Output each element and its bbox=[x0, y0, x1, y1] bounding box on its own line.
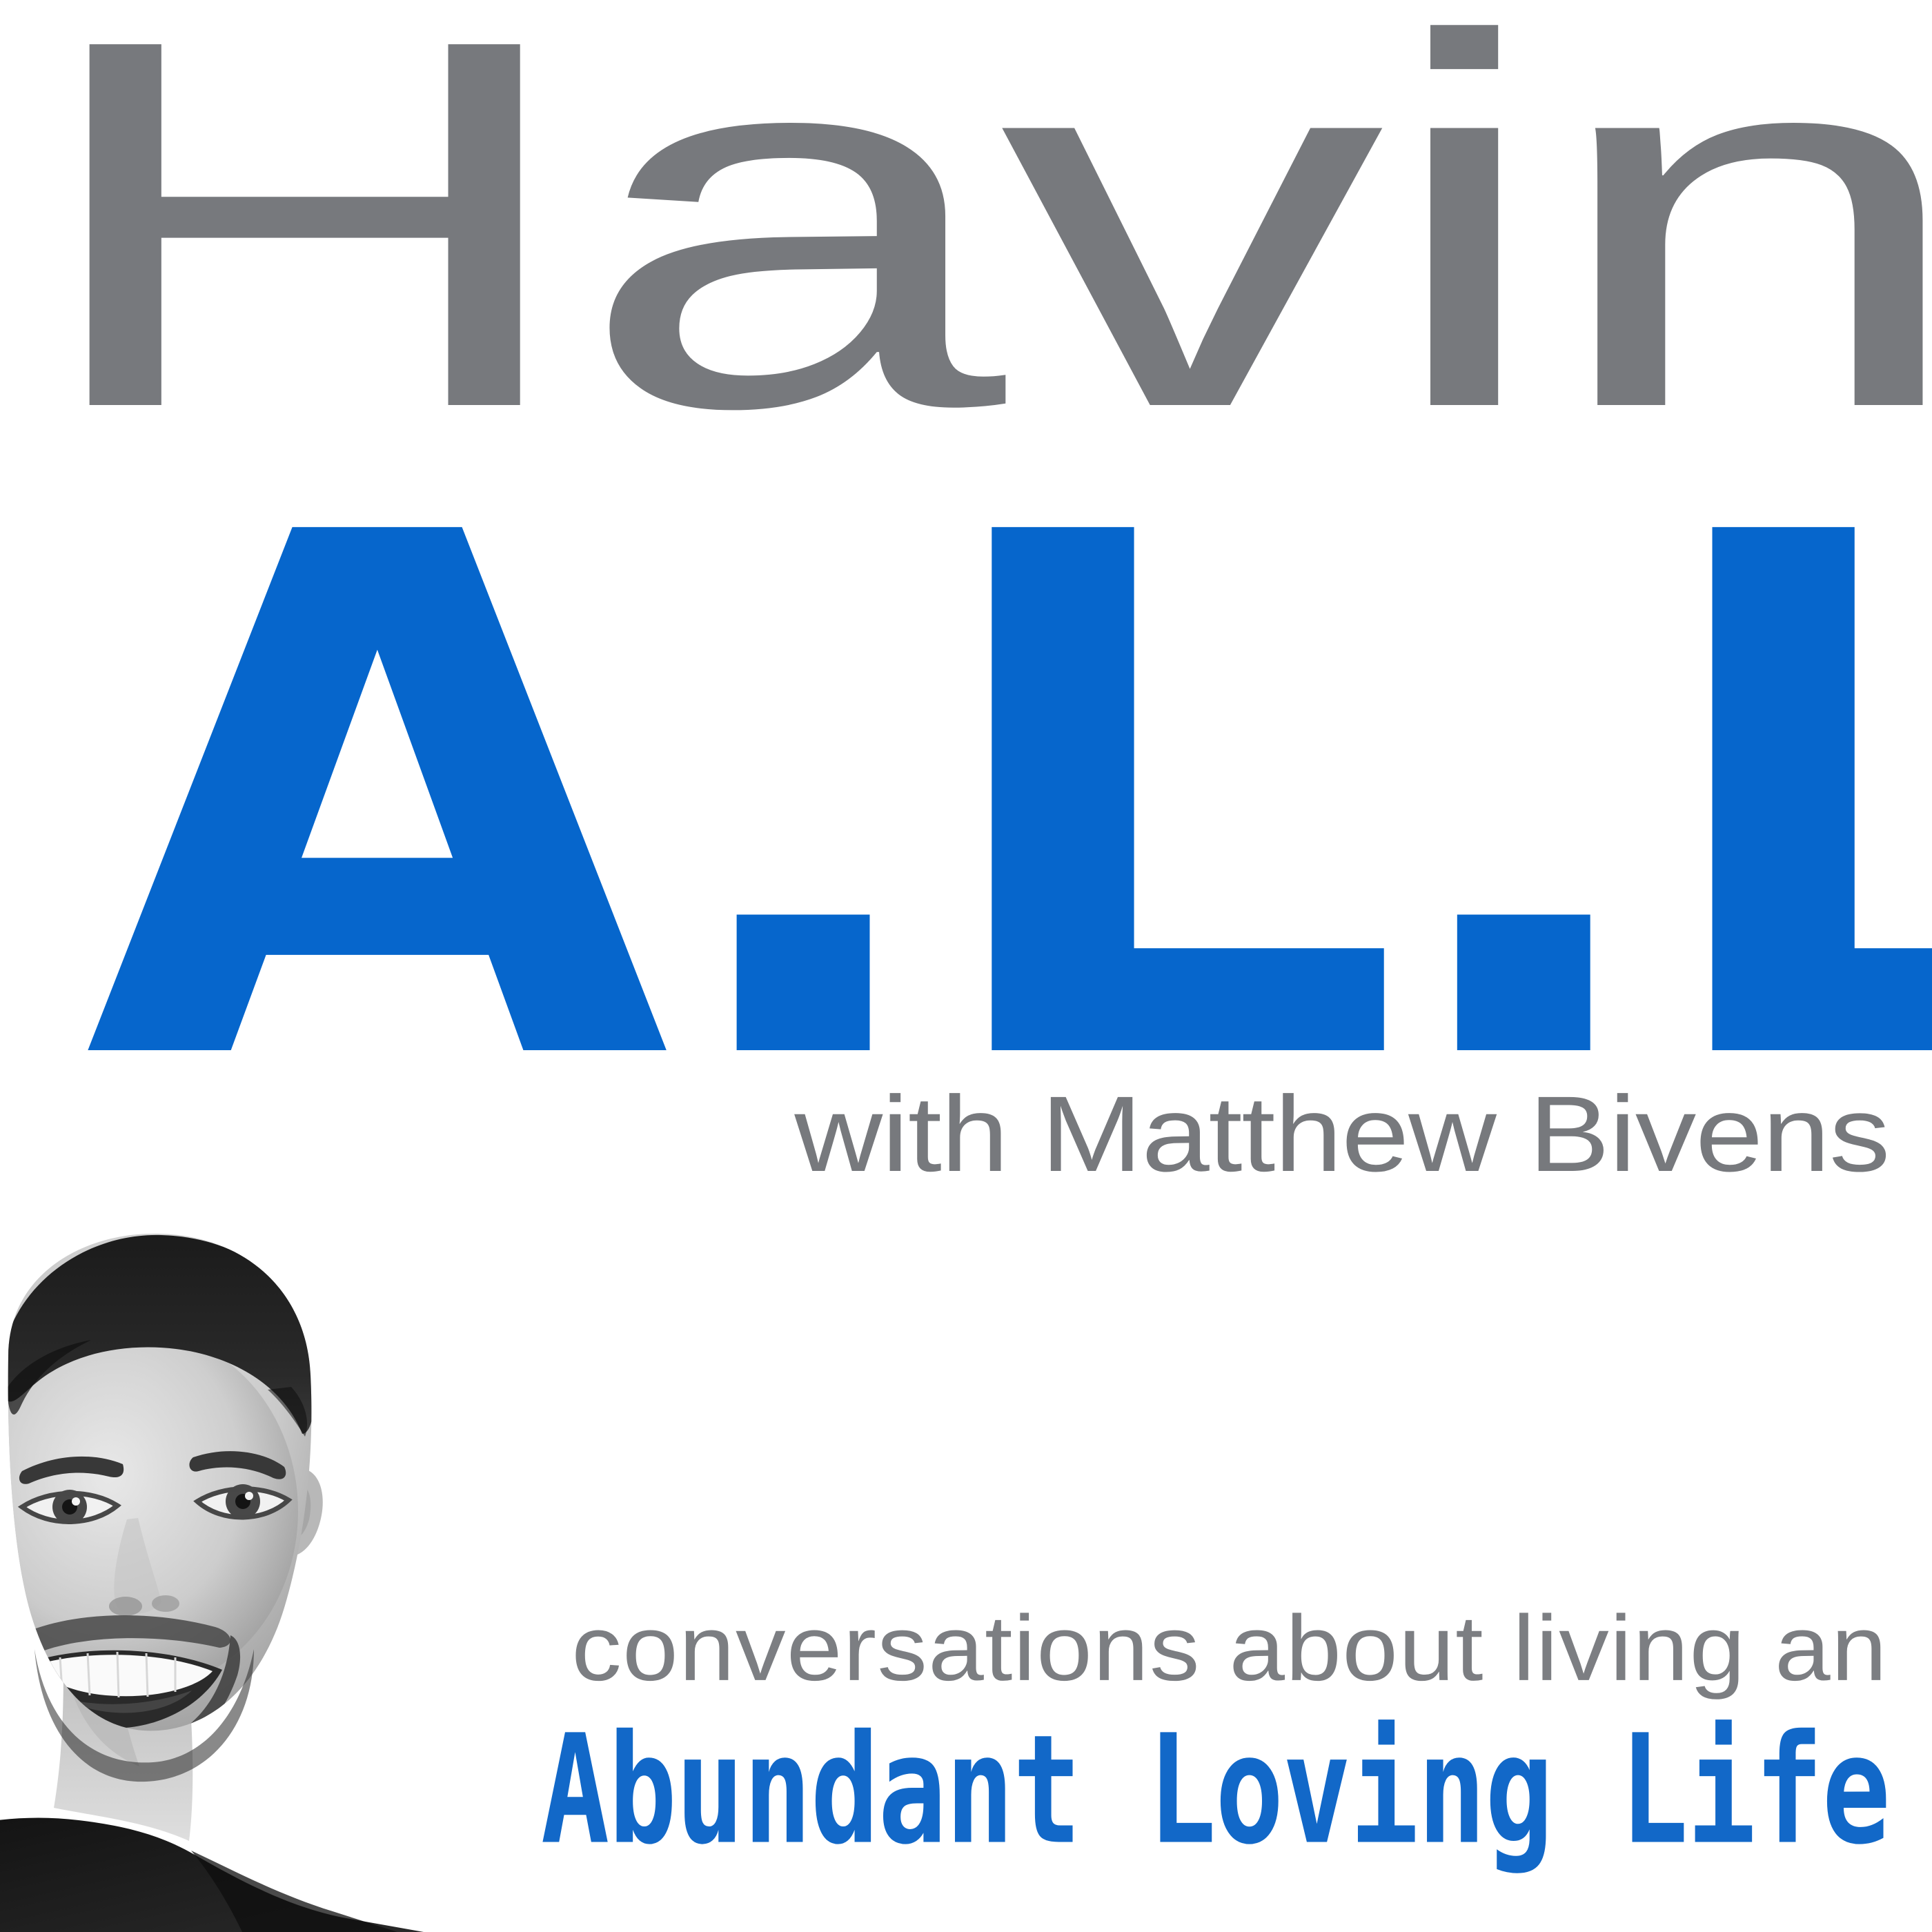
host-portrait-photo bbox=[0, 1214, 471, 1932]
tagline-line1: conversations about living an bbox=[571, 1602, 1888, 1695]
page-title-acronym: A.L.L. bbox=[84, 475, 1932, 1130]
podcast-cover-art: Having It A.L.L. with Matthew Bivens con… bbox=[0, 0, 1932, 1932]
host-byline: with Matthew Bivens bbox=[794, 1081, 1889, 1188]
tagline-line2: Abundant Loving Life bbox=[541, 1715, 1889, 1866]
